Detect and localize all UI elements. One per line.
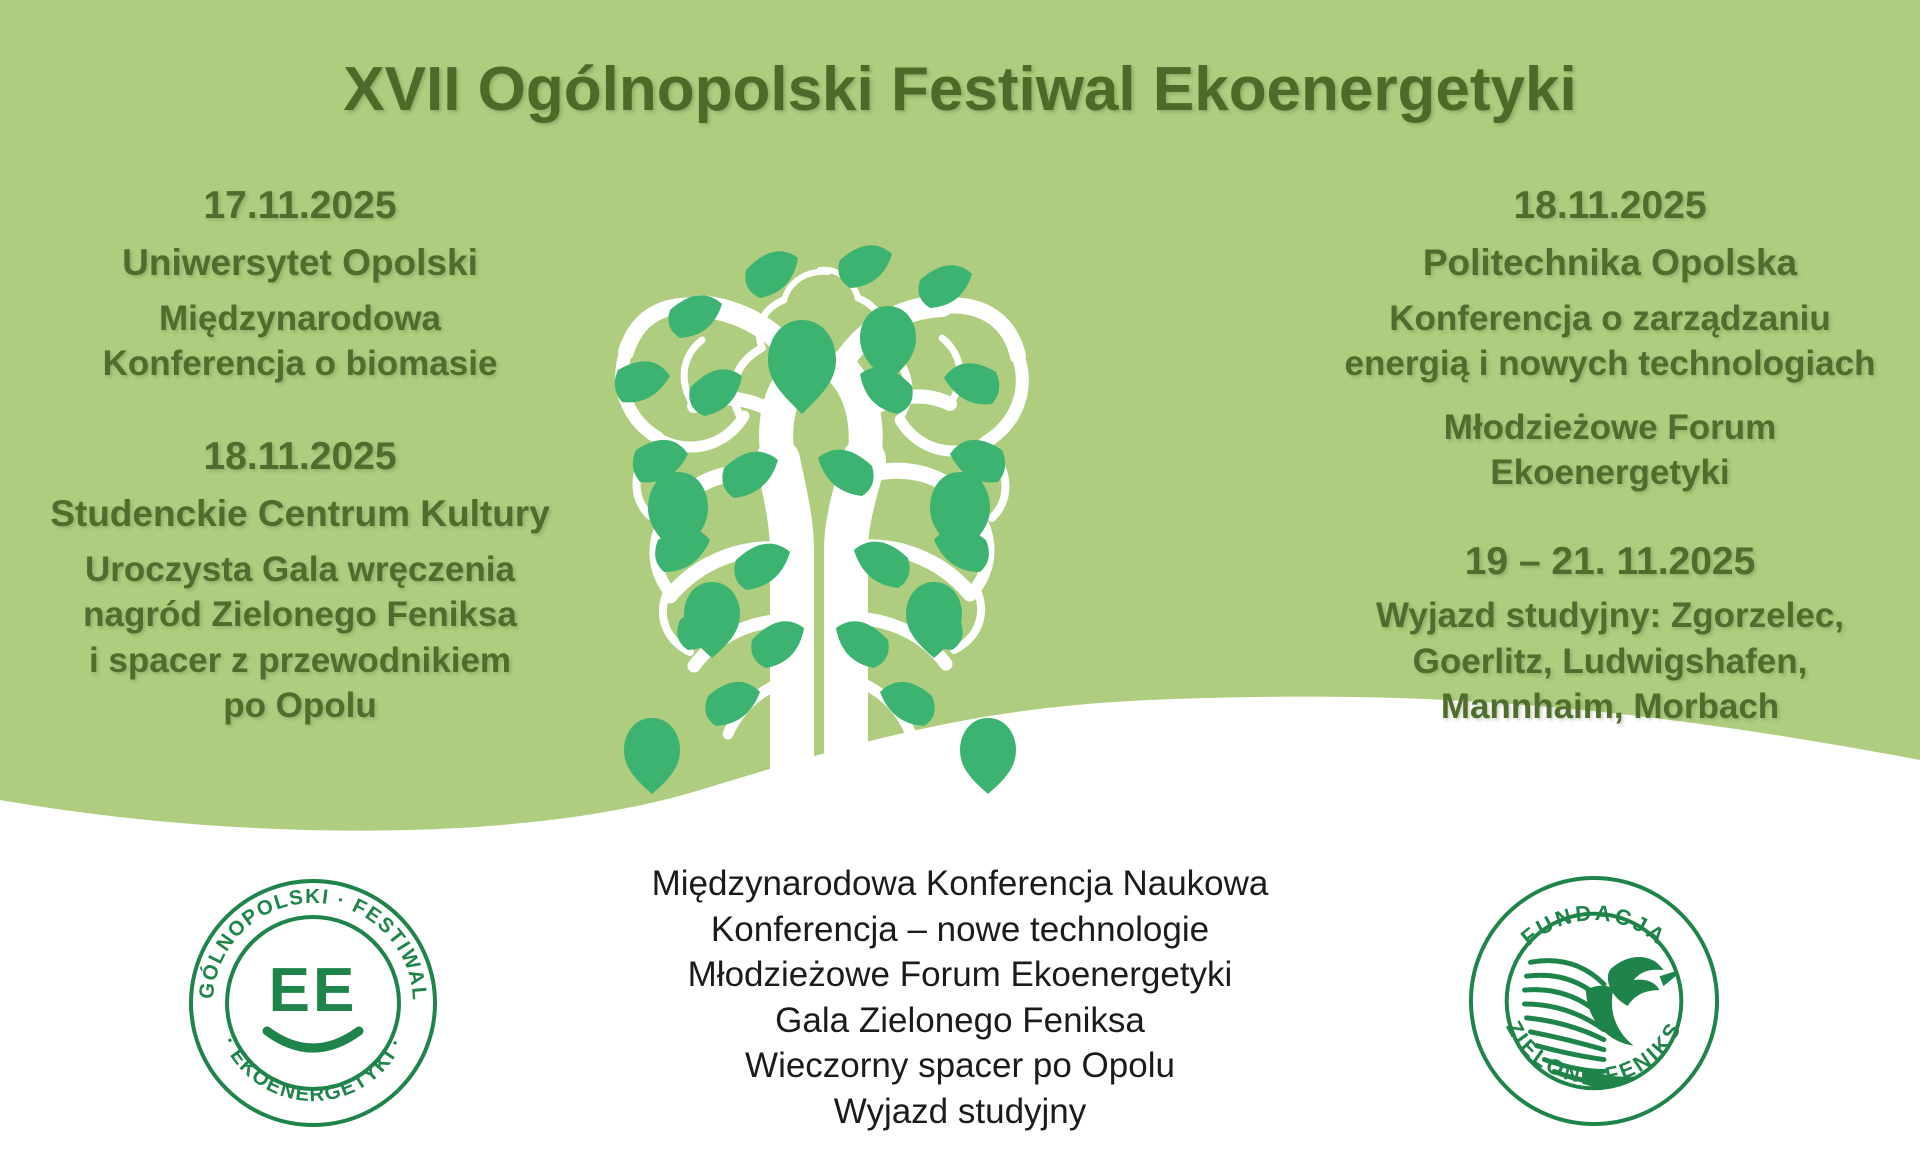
ee-festival-logo: OGÓLNOPOLSKI · FESTIWAL · · EKOENERGETYK… [185, 875, 441, 1131]
event-date: 18.11.2025 [20, 429, 580, 484]
schedule-block-right-1: 18.11.2025 Politechnika Opolska Konferen… [1310, 178, 1910, 496]
event-date: 19 – 21. 11.2025 [1310, 534, 1910, 589]
zielony-feniks-foundation-logo: FUNDACJA ZIELONY FENIKS [1465, 870, 1723, 1132]
bottom-program-list: Międzynarodowa Konferencja Naukowa Konfe… [480, 861, 1440, 1134]
event-name-line: Goerlitz, Ludwigshafen, [1310, 639, 1910, 685]
event-name-line: Konferencja o zarządzaniu [1310, 296, 1910, 342]
left-schedule-column: 17.11.2025 Uniwersytet Opolski Międzynar… [20, 178, 580, 729]
ee-logo-monogram: EE [269, 956, 358, 1025]
event-name-line: Mannhaim, Morbach [1310, 684, 1910, 730]
program-item: Wieczorny spacer po Opolu [480, 1043, 1440, 1089]
page-title: XVII Ogólnopolski Festiwal Ekoenergetyki [0, 54, 1920, 125]
program-item: Wyjazd studyjny [480, 1089, 1440, 1135]
event-venue: Uniwersytet Opolski [20, 237, 580, 290]
event-name-line: energią i nowych technologiach [1310, 341, 1910, 387]
bottom-section: OGÓLNOPOLSKI · FESTIWAL · · EKOENERGETYK… [0, 840, 1920, 1163]
program-item: Gala Zielonego Feniksa [480, 998, 1440, 1044]
feniks-logo-top-arc-text: FUNDACJA [1516, 900, 1672, 950]
event-venue: Politechnika Opolska [1310, 237, 1910, 290]
schedule-block-left-1: 17.11.2025 Uniwersytet Opolski Międzynar… [20, 178, 580, 387]
event-name-line: Uroczysta Gala wręczenia [20, 547, 580, 593]
poster-root: XVII Ogólnopolski Festiwal Ekoenergetyki… [0, 0, 1920, 1163]
event-name-line: Młodzieżowe Forum [1310, 405, 1910, 451]
program-item: Międzynarodowa Konferencja Naukowa [480, 861, 1440, 907]
event-name-line: Wyjazd studyjny: Zgorzelec, [1310, 593, 1910, 639]
schedule-block-right-2: 19 – 21. 11.2025 Wyjazd studyjny: Zgorze… [1310, 534, 1910, 730]
event-date: 18.11.2025 [1310, 178, 1910, 233]
event-venue: Studenckie Centrum Kultury [20, 488, 580, 541]
schedule-block-left-2: 18.11.2025 Studenckie Centrum Kultury Ur… [20, 429, 580, 729]
right-schedule-column: 18.11.2025 Politechnika Opolska Konferen… [1310, 178, 1910, 730]
event-name-line: Ekoenergetyki [1310, 450, 1910, 496]
event-name-line: Międzynarodowa [20, 296, 580, 342]
program-item: Konferencja – nowe technologie [480, 907, 1440, 953]
event-name-line: i spacer z przewodnikiem [20, 638, 580, 684]
event-name-line: po Opolu [20, 683, 580, 729]
event-name-line: nagród Zielonego Feniksa [20, 592, 580, 638]
event-name-line: Konferencja o biomasie [20, 341, 580, 387]
event-date: 17.11.2025 [20, 178, 580, 233]
program-item: Młodzieżowe Forum Ekoenergetyki [480, 952, 1440, 998]
